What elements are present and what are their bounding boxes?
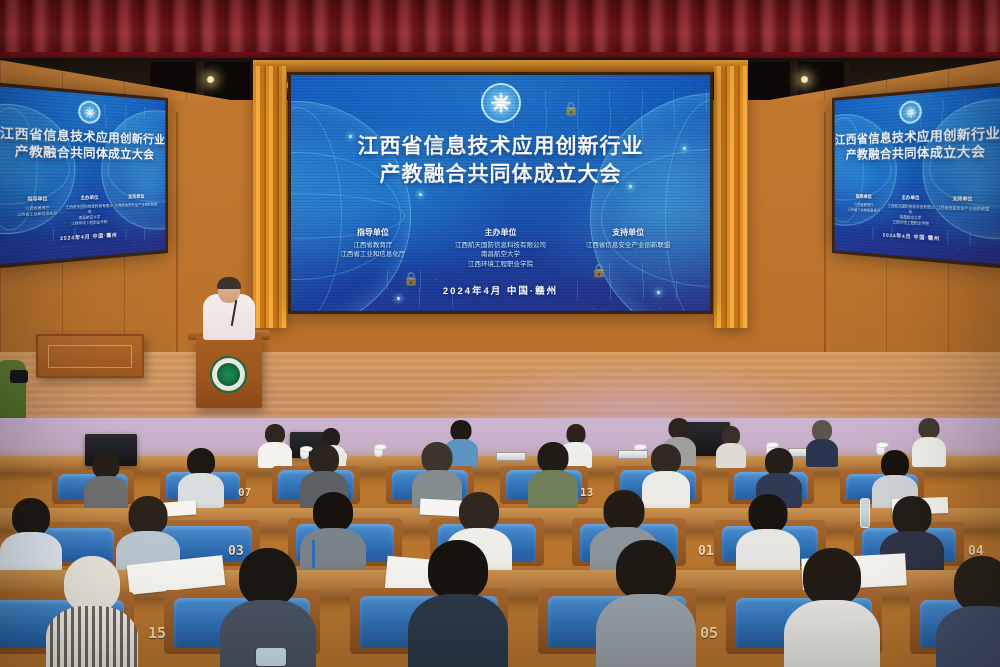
main-led-screen[interactable]: 🔒 🔒 🔒 <box>288 72 713 314</box>
logo-hub <box>498 101 503 106</box>
attendee-torso <box>46 606 138 667</box>
attendee <box>178 448 224 506</box>
network-node <box>397 297 400 300</box>
stage-curtain-valance <box>253 60 748 72</box>
conference-title-line2: 产教融合共同体成立大会 <box>291 161 710 189</box>
network-node <box>419 193 422 196</box>
attendee-head <box>651 444 681 474</box>
org-item: 南昌航空大学 <box>437 250 563 259</box>
school-crest-emblem <box>210 356 247 393</box>
attendee-head <box>567 424 586 444</box>
attendee-head <box>265 424 285 444</box>
water-bottle <box>860 498 870 528</box>
org-column-host: 主办单位 江西航天国防信息科技有限公司 南昌航空大学 江西环境工程职业学院 <box>887 194 936 227</box>
seat-number-label: 07 <box>238 486 251 499</box>
attendee-torso <box>936 606 1000 667</box>
right-led-screen[interactable]: 江西省信息技术应用创新行业 产教融合共同体成立大会 指导单位 江西省教育厅 江西… <box>832 82 1000 268</box>
presenter-hair <box>217 277 241 289</box>
wooden-stage-bench <box>36 334 144 378</box>
ceiling-spotlight <box>800 75 809 84</box>
attendee-head <box>954 556 1000 612</box>
attendee-head <box>451 420 472 441</box>
attendee-head <box>812 420 832 441</box>
org-heading: 主办单位 <box>65 194 114 202</box>
org-item: 江西省工业和信息化厅 <box>310 250 436 259</box>
org-item: 江西省信息安全产业创新联盟 <box>565 241 691 250</box>
attendee-torso <box>258 442 292 468</box>
org-heading: 支持单位 <box>565 227 691 238</box>
camera-icon <box>10 370 28 383</box>
conference-title: 江西省信息技术应用创新行业 产教融合共同体成立大会 <box>291 133 710 189</box>
attendee <box>784 548 880 667</box>
padlock-icon: 🔒 <box>563 101 579 117</box>
org-column-support: 支持单位 江西省信息安全产业创新联盟 <box>114 193 158 209</box>
org-heading: 主办单位 <box>887 194 936 202</box>
attendee-head <box>765 448 793 476</box>
attendee <box>596 540 696 667</box>
org-item: 江西省信息安全产业创新联盟 <box>936 205 990 213</box>
ceiling-spotlight <box>206 75 215 84</box>
seat-number-label: 15 <box>148 624 166 642</box>
stage-curtain-right <box>714 66 748 328</box>
org-column-guiding: 指导单位 江西省教育厅 江西省工业和信息化厅 <box>10 195 64 218</box>
attendee <box>806 420 838 466</box>
auditorium-scene: 🔒 🔒 🔒 <box>0 0 1000 667</box>
seat-number-label: 05 <box>700 624 718 642</box>
tea-cup <box>374 446 383 457</box>
attendee <box>408 540 508 667</box>
conference-title: 江西省信息技术应用创新行业 产教融合共同体成立大会 <box>835 126 1000 165</box>
attendee <box>936 556 1000 667</box>
attendee <box>46 556 138 667</box>
seat-number-label: 01 <box>698 544 714 559</box>
org-item: 江西环境工程职业学院 <box>437 260 563 269</box>
org-item: 江西省信息安全产业创新联盟 <box>114 202 158 209</box>
attendee-head <box>428 540 488 600</box>
logo-petals <box>905 106 916 118</box>
attendee-head <box>422 442 453 473</box>
attendee <box>716 426 746 466</box>
led-surface: 江西省信息技术应用创新行业 产教融合共同体成立大会 指导单位 江西省教育厅 江西… <box>0 86 165 264</box>
crest-inner <box>217 363 240 386</box>
attendee-torso <box>528 470 578 509</box>
attendee-head <box>803 548 861 606</box>
phone-screen[interactable] <box>256 648 286 666</box>
attendee-head <box>187 448 215 476</box>
org-heading: 指导单位 <box>10 195 64 203</box>
stage-curtain-left <box>253 66 287 328</box>
org-heading: 主办单位 <box>437 227 563 238</box>
org-column-support: 支持单位 江西省信息安全产业创新联盟 <box>936 195 990 213</box>
conference-footer: 2024年4月 中国·赣州 <box>291 283 710 297</box>
attendee-head <box>129 496 168 535</box>
org-column-support: 支持单位 江西省信息安全产业创新联盟 <box>565 227 691 250</box>
org-item: 江西航天国防信息科技有限公司 <box>437 241 563 250</box>
attendee-head <box>669 418 690 439</box>
org-item: 江西省工业和信息化厅 <box>10 211 64 219</box>
attendee <box>258 424 292 466</box>
attendee-head <box>12 498 50 536</box>
org-column-host: 主办单位 江西航天国防信息科技有限公司 南昌航空大学 江西环境工程职业学院 <box>437 227 563 269</box>
logo-petals <box>490 92 512 114</box>
organizer-columns: 指导单位 江西省教育厅 江西省工业和信息化厅 主办单位 江西航天国防信息科技有限… <box>291 227 710 269</box>
attendee-torso <box>716 443 746 468</box>
org-column-guiding: 指导单位 江西省教育厅 江西省工业和信息化厅 <box>842 193 886 214</box>
led-surface: 江西省信息技术应用创新行业 产教融合共同体成立大会 指导单位 江西省教育厅 江西… <box>835 86 1000 264</box>
led-surface: 🔒 🔒 🔒 <box>291 75 710 311</box>
attendee-head <box>919 418 940 439</box>
org-item: 江西省工业和信息化厅 <box>842 207 886 214</box>
attendee-head <box>239 548 297 606</box>
attendee-head <box>93 452 120 479</box>
attendee <box>528 442 578 506</box>
org-heading: 支持单位 <box>114 193 158 200</box>
wall-panel-seam <box>824 112 826 352</box>
attendee-head <box>604 490 645 531</box>
left-led-screen[interactable]: 江西省信息技术应用创新行业 产教融合共同体成立大会 指导单位 江西省教育厅 江西… <box>0 82 168 268</box>
attendee-head <box>616 540 676 600</box>
attendee-head <box>459 492 499 532</box>
attendee-head <box>749 494 788 533</box>
attendee-head <box>309 444 339 474</box>
attendee-head <box>313 492 353 532</box>
attendee-torso <box>806 439 838 467</box>
attendee-head <box>893 496 932 535</box>
attendee-head <box>881 450 909 478</box>
name-card <box>496 452 526 461</box>
logo-petals <box>84 106 95 118</box>
attendee-head <box>64 556 120 612</box>
org-heading: 指导单位 <box>310 227 436 238</box>
photographer-with-camera <box>0 360 26 426</box>
wall-panel-seam <box>176 112 178 352</box>
attendee-head <box>538 442 569 473</box>
conference-logo-icon <box>481 83 521 123</box>
org-heading: 支持单位 <box>936 195 990 203</box>
conference-title: 江西省信息技术应用创新行业 产教融合共同体成立大会 <box>0 126 165 165</box>
attendee-torso <box>596 594 696 667</box>
org-column-host: 主办单位 江西航天国防信息科技有限公司 南昌航空大学 江西环境工程职业学院 <box>65 194 114 227</box>
org-heading: 指导单位 <box>842 193 886 200</box>
org-item: 江西省教育厅 <box>310 241 436 250</box>
attendee-torso <box>408 594 508 667</box>
attendee-torso <box>784 600 880 667</box>
org-column-guiding: 指导单位 江西省教育厅 江西省工业和信息化厅 <box>310 227 436 260</box>
conference-title-line1: 江西省信息技术应用创新行业 <box>291 133 710 161</box>
